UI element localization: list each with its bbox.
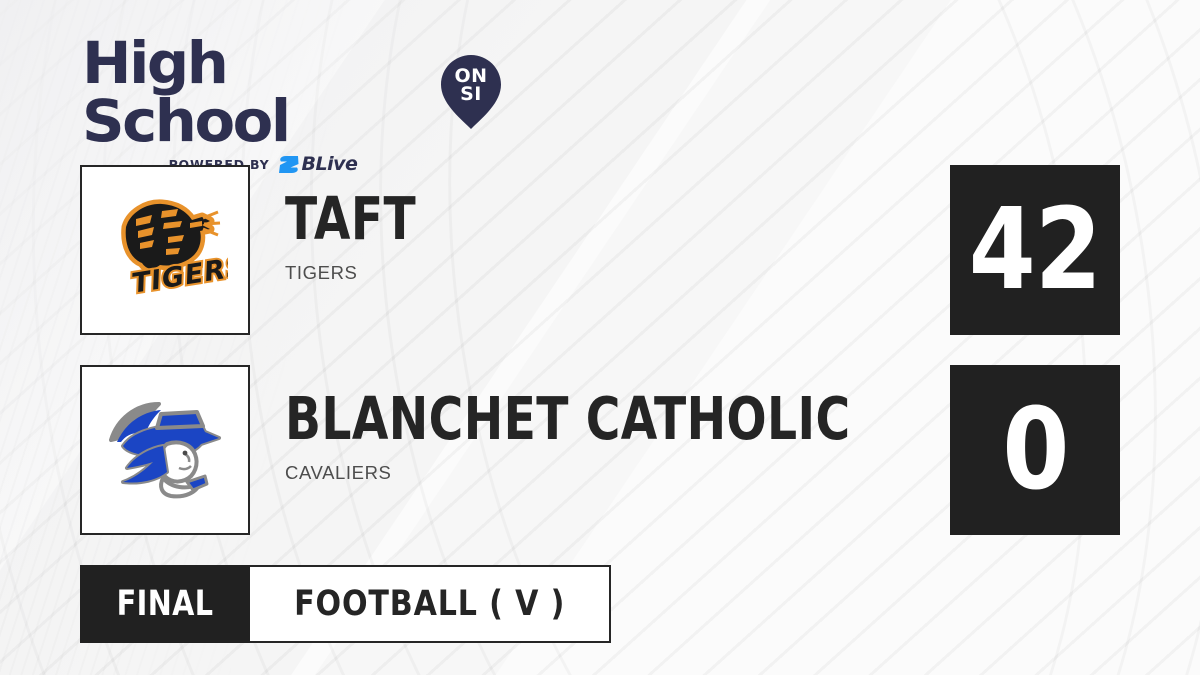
- team-logo-tile: TIGERS: [80, 165, 250, 335]
- team-name: BLANCHET CATHOLIC: [285, 389, 851, 448]
- on-si-pin-text: ON SI: [440, 55, 502, 129]
- game-status-text: FINAL: [117, 584, 214, 624]
- team-score: 42: [969, 194, 1101, 306]
- team-name: TAFT: [285, 189, 416, 248]
- on-si-pin-icon: ON SI: [440, 55, 502, 129]
- team-row: BLANCHET CATHOLIC CAVALIERS: [80, 365, 780, 535]
- pin-line-si: SI: [460, 86, 482, 104]
- sport-label-box: FOOTBALL ( V ): [250, 565, 611, 643]
- brand-wordmark: High School: [82, 34, 437, 150]
- sport-label-text: FOOTBALL ( V ): [294, 584, 565, 624]
- cavalier-head-logo: [99, 390, 231, 510]
- tiger-head-logo: TIGERS: [102, 187, 228, 313]
- brand-row: High School ON SI: [82, 34, 502, 150]
- team-text-block: BLANCHET CATHOLIC CAVALIERS: [285, 389, 992, 484]
- team-logo-tile: [80, 365, 250, 535]
- team-text-block: TAFT TIGERS: [285, 189, 449, 284]
- team-score: 0: [1002, 394, 1068, 506]
- team-score-box: 0: [950, 365, 1120, 535]
- team-mascot: TIGERS: [285, 262, 449, 284]
- team-row: TIGERS TAFT TIGERS: [80, 165, 780, 335]
- team-mascot: CAVALIERS: [285, 462, 992, 484]
- game-status-badge: FINAL: [80, 565, 250, 643]
- scoreboard-graphic: High School ON SI POWERED BY BLive: [0, 0, 1200, 675]
- status-bar: FINAL FOOTBALL ( V ): [80, 565, 611, 643]
- team-score-box: 42: [950, 165, 1120, 335]
- brand-lockup: High School ON SI POWERED BY BLive: [82, 34, 502, 174]
